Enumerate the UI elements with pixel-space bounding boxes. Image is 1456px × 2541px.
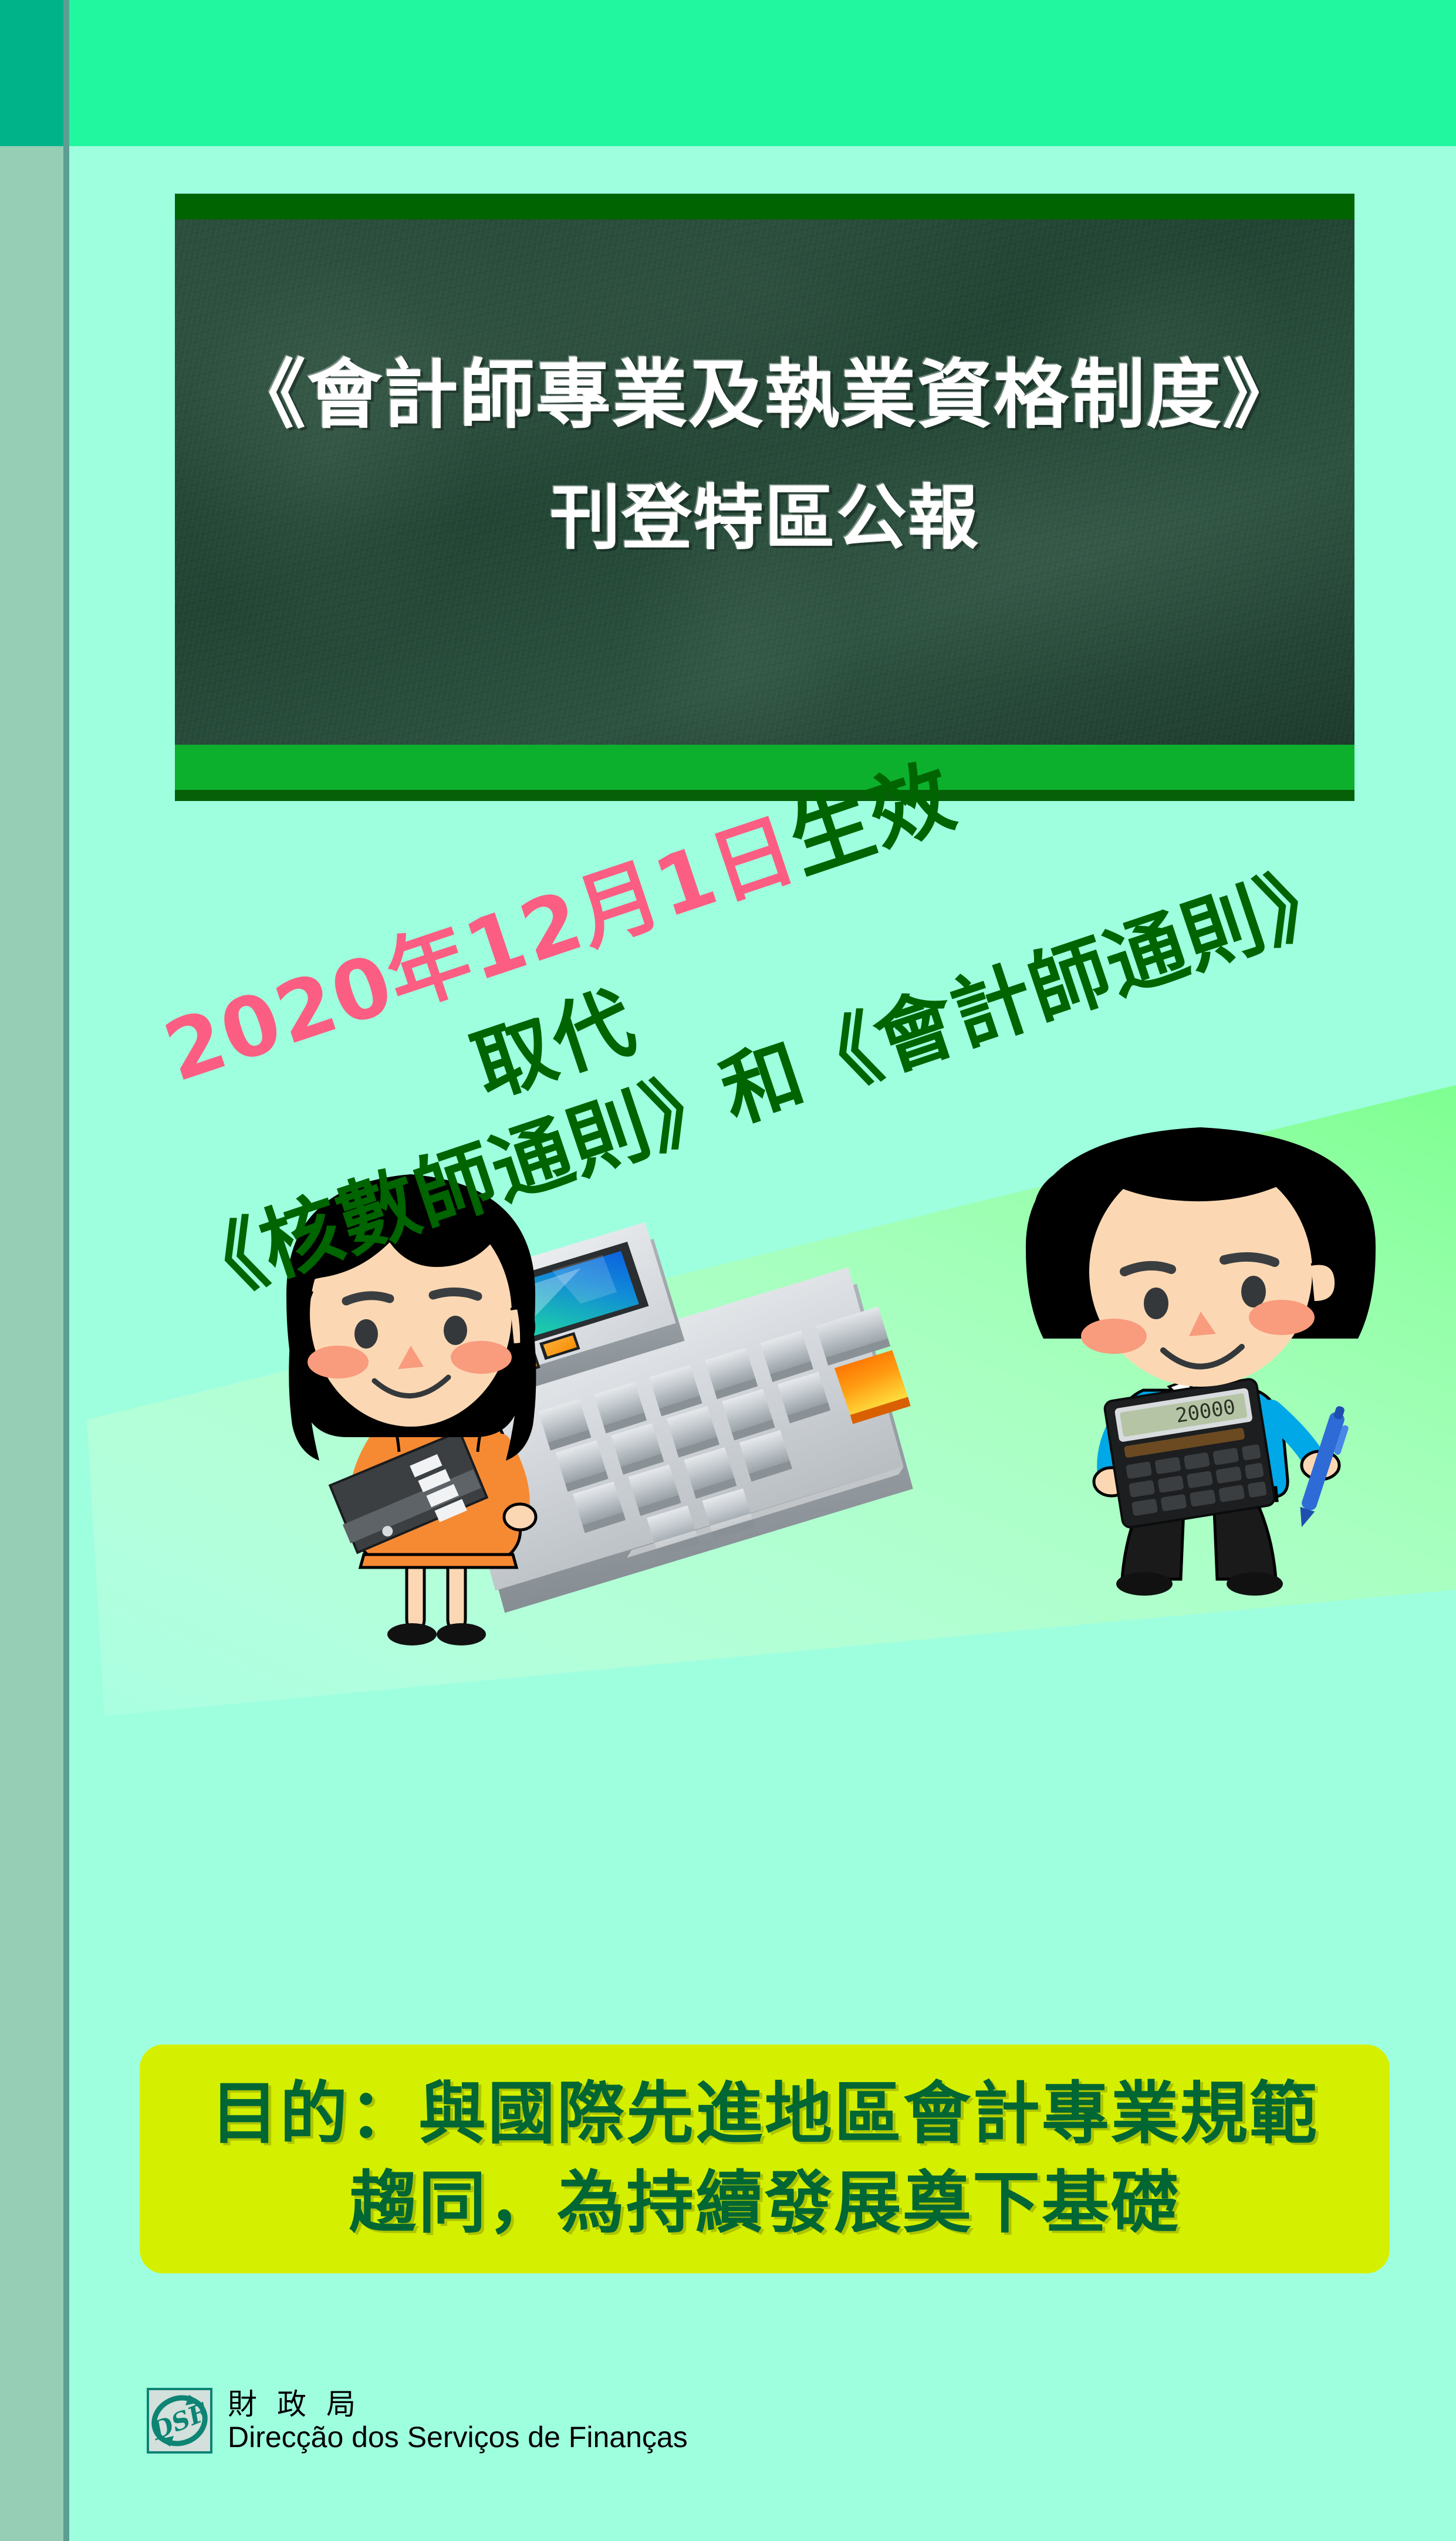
- sidebar-strip-body: [0, 146, 63, 2541]
- illustration-svg: 20000: [69, 1062, 1456, 1918]
- footer-branding: DSF 財政局 Direcção dos Serviços de Finança…: [147, 2388, 688, 2454]
- blackboard-frame-top: [175, 194, 1354, 219]
- sidebar-strip-top: [0, 0, 63, 146]
- footer-name-pt: Direcção dos Serviços de Finanças: [228, 2422, 688, 2453]
- sidebar-divider-line: [63, 0, 69, 2541]
- page-title-secondary: 刊登特區公報: [175, 461, 1354, 563]
- purpose-callout-box: 目的：與國際先進地區會計專業規範 趨同，為持續發展奠下基礎: [140, 2045, 1390, 2273]
- footer-name-cn: 財政局: [228, 2389, 688, 2420]
- effective-date-value: 2020年12月1日: [153, 801, 808, 1101]
- blackboard-ledge-shadow: [175, 790, 1354, 801]
- male-accountant-graphic: 20000: [1026, 1127, 1376, 1596]
- blackboard-ledge: [175, 745, 1354, 790]
- header-band: [69, 0, 1456, 146]
- dsf-logo-icon: DSF: [147, 2388, 212, 2454]
- purpose-line-1: 目的：與國際先進地區會計專業規範: [211, 2070, 1319, 2159]
- poster-body: 《會計師專業及執業資格制度》 刊登特區公報 2020年12月1日生效 取代 《核…: [69, 146, 1456, 2541]
- page-title-primary: 《會計師專業及執業資格制度》: [175, 334, 1354, 442]
- illustration-stage: 20000: [69, 1062, 1456, 1918]
- hand-calculator: 20000: [1104, 1378, 1276, 1528]
- purpose-line-2: 趨同，為持續發展奠下基礎: [349, 2159, 1180, 2248]
- blackboard: 《會計師專業及執業資格制度》 刊登特區公報: [175, 194, 1354, 801]
